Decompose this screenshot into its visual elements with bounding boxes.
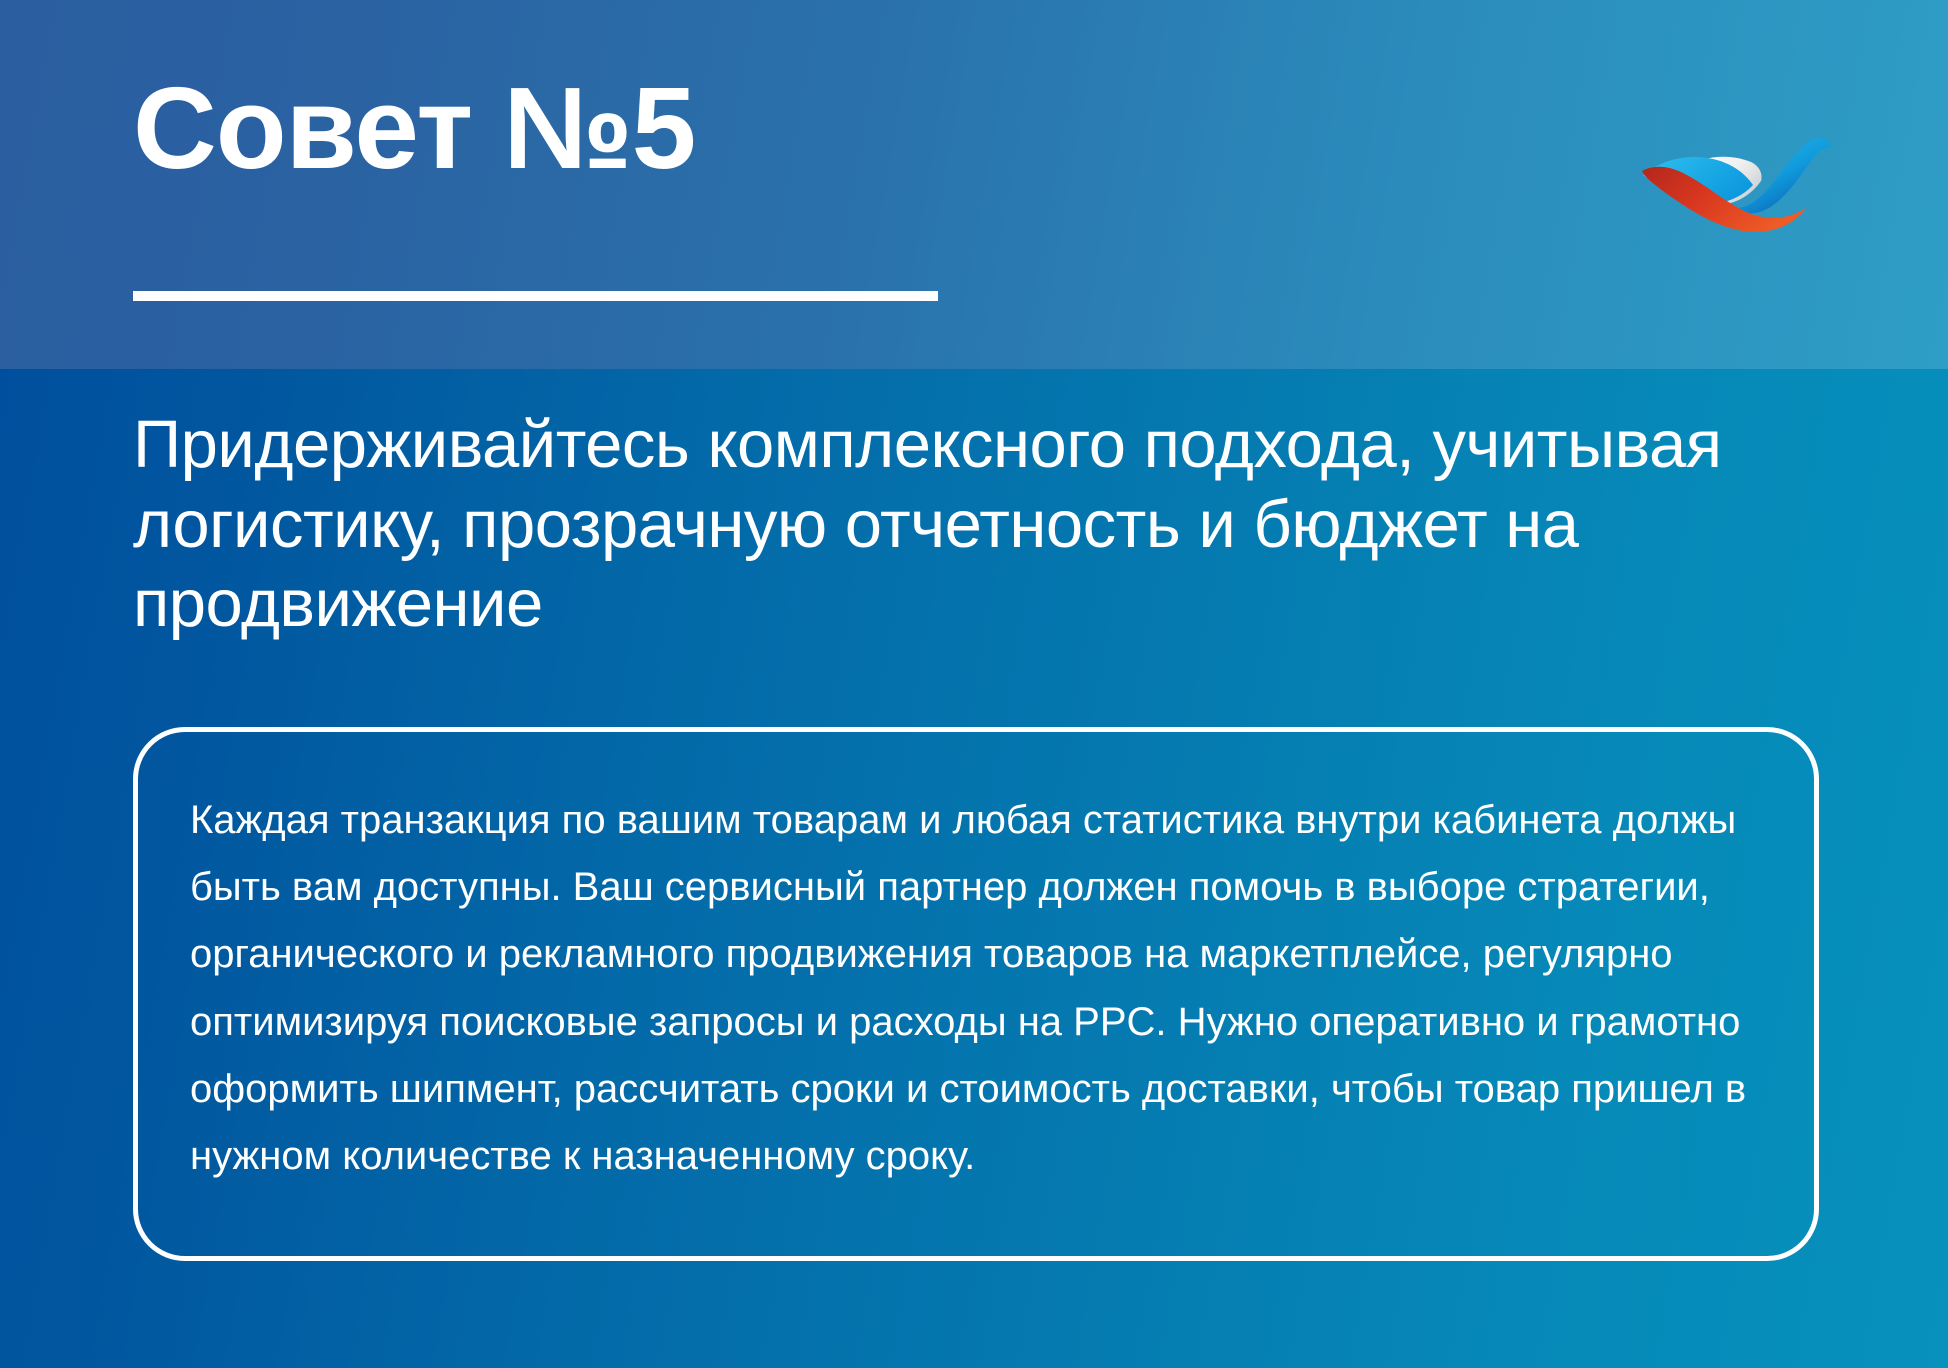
page-title: Совет №5 xyxy=(133,68,695,190)
title-underline-rule xyxy=(133,291,938,301)
header-band: Совет №5 xyxy=(0,0,1948,369)
body-card: Каждая транзакция по вашим товарам и люб… xyxy=(133,727,1819,1261)
body-paragraph: Каждая транзакция по вашим товарам и люб… xyxy=(190,787,1760,1190)
brand-logo xyxy=(1601,105,1851,233)
title-block: Совет №5 xyxy=(133,68,695,190)
swoosh-logo-icon xyxy=(1601,105,1851,233)
slide-root: Совет №5 xyxy=(0,0,1948,1368)
subheading-text: Придерживайтесь комплексного подхода, уч… xyxy=(133,405,1873,644)
